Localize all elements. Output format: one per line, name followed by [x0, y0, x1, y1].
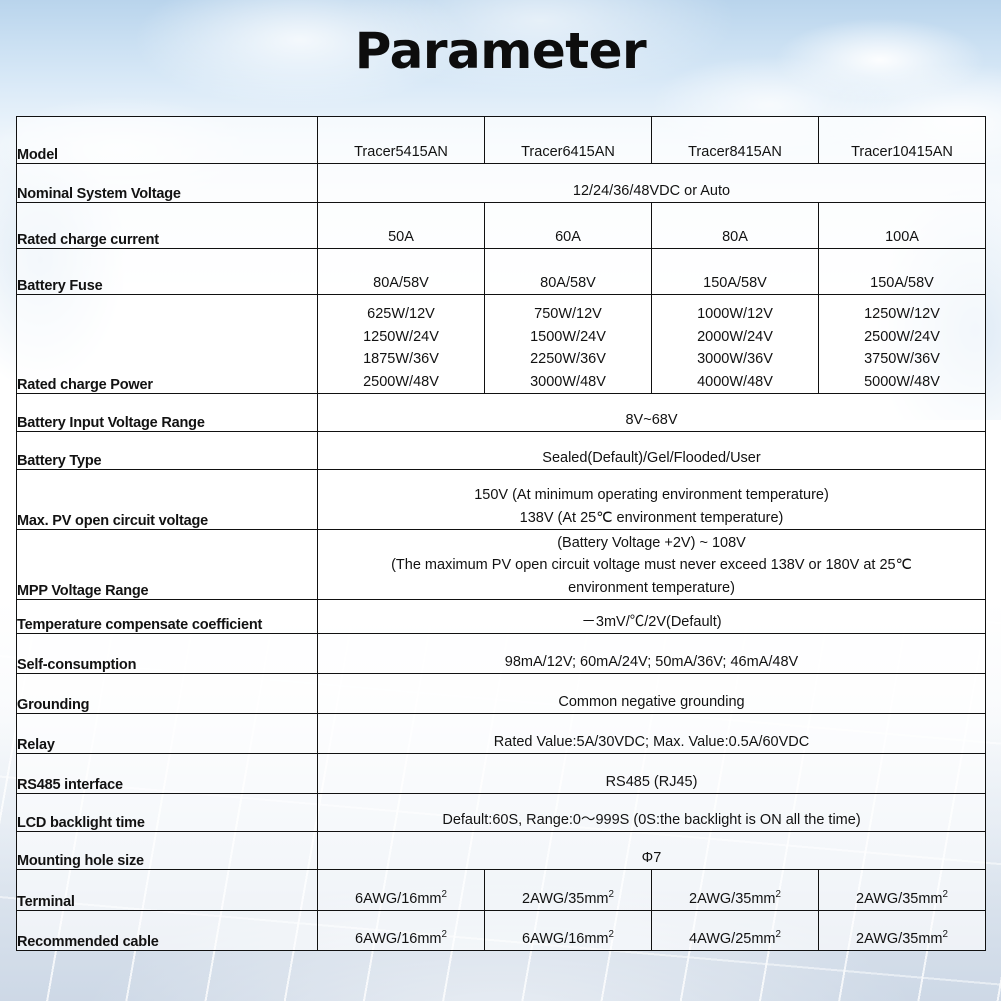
row-label: Max. PV open circuit voltage: [17, 470, 318, 530]
row-value-col-1: 625W/12V1250W/24V1875W/36V2500W/48V: [318, 295, 485, 394]
row-label: Rated charge Power: [17, 295, 318, 394]
row-value-text: 6AWG/16mm: [355, 891, 441, 907]
specification-table-container: ModelTracer5415ANTracer6415ANTracer8415A…: [16, 116, 985, 951]
row-value: (Battery Voltage +2V) ~ 108V(The maximum…: [318, 530, 986, 600]
table-row: Battery TypeSealed(Default)/Gel/Flooded/…: [17, 432, 986, 470]
row-value-text: 2AWG/35mm: [856, 931, 942, 947]
row-value: Default:60S, Range:0〜999S (0S:the backli…: [318, 794, 986, 832]
row-value-line: 138V (At 25℃ environment temperature): [318, 507, 985, 529]
row-value-col-3: 2AWG/35mm2: [652, 870, 819, 911]
row-value-line: 1250W/24V: [318, 326, 484, 348]
table-row: Terminal6AWG/16mm22AWG/35mm22AWG/35mm22A…: [17, 870, 986, 911]
row-value-line: 2500W/48V: [318, 371, 484, 393]
row-value-col-2: 750W/12V1500W/24V2250W/36V3000W/48V: [485, 295, 652, 394]
row-value: Rated Value:5A/30VDC; Max. Value:0.5A/60…: [318, 714, 986, 754]
superscript-two: 2: [609, 889, 614, 900]
row-value-col-4: 150A/58V: [819, 249, 986, 295]
row-value-line: 1000W/12V: [652, 303, 818, 325]
row-label: Mounting hole size: [17, 832, 318, 870]
row-value-col-3: 4AWG/25mm2: [652, 911, 819, 951]
row-value-col-3: Tracer8415AN: [652, 117, 819, 164]
row-value: 8V~68V: [318, 394, 986, 432]
row-label: Recommended cable: [17, 911, 318, 951]
row-label: Temperature compensate coefficient: [17, 600, 318, 634]
table-row: Temperature compensate coefficient－3mV/℃…: [17, 600, 986, 634]
row-value: Φ7: [318, 832, 986, 870]
row-value-line: 5000W/48V: [819, 371, 985, 393]
row-value-text: 6AWG/16mm: [522, 931, 608, 947]
table-row: LCD backlight timeDefault:60S, Range:0〜9…: [17, 794, 986, 832]
row-value-text: 2AWG/35mm: [522, 891, 608, 907]
table-row: ModelTracer5415ANTracer6415ANTracer8415A…: [17, 117, 986, 164]
row-value: 150V (At minimum operating environment t…: [318, 470, 986, 530]
row-label: Grounding: [17, 674, 318, 714]
row-value-col-1: 80A/58V: [318, 249, 485, 295]
row-value-line: 3000W/36V: [652, 348, 818, 370]
row-value-line: 150V (At minimum operating environment t…: [318, 484, 985, 506]
row-value-col-4: 2AWG/35mm2: [819, 870, 986, 911]
row-value-line: 750W/12V: [485, 303, 651, 325]
row-value-col-2: 60A: [485, 203, 652, 249]
table-row: GroundingCommon negative grounding: [17, 674, 986, 714]
row-label: Nominal System Voltage: [17, 164, 318, 203]
row-value: 12/24/36/48VDC or Auto: [318, 164, 986, 203]
table-row: Nominal System Voltage12/24/36/48VDC or …: [17, 164, 986, 203]
table-row: RelayRated Value:5A/30VDC; Max. Value:0.…: [17, 714, 986, 754]
row-value-line: 3750W/36V: [819, 348, 985, 370]
row-value-col-3: 1000W/12V2000W/24V3000W/36V4000W/48V: [652, 295, 819, 394]
table-row: Recommended cable6AWG/16mm26AWG/16mm24AW…: [17, 911, 986, 951]
superscript-two: 2: [943, 889, 948, 900]
table-row: MPP Voltage Range(Battery Voltage +2V) ~…: [17, 530, 986, 600]
row-value-line: 2500W/24V: [819, 326, 985, 348]
row-label: Relay: [17, 714, 318, 754]
row-value-col-4: 2AWG/35mm2: [819, 911, 986, 951]
row-label: LCD backlight time: [17, 794, 318, 832]
row-value-col-4: Tracer10415AN: [819, 117, 986, 164]
page-title: Parameter: [0, 26, 1001, 76]
row-label: Self-consumption: [17, 634, 318, 674]
row-value-col-2: 80A/58V: [485, 249, 652, 295]
row-value: RS485 (RJ45): [318, 754, 986, 794]
row-label: Model: [17, 117, 318, 164]
row-value: Common negative grounding: [318, 674, 986, 714]
row-value-text: 2AWG/35mm: [689, 891, 775, 907]
row-label: MPP Voltage Range: [17, 530, 318, 600]
row-label: Battery Type: [17, 432, 318, 470]
row-value-text: 4AWG/25mm: [689, 931, 775, 947]
superscript-two: 2: [776, 889, 781, 900]
table-row: Battery Fuse80A/58V80A/58V150A/58V150A/5…: [17, 249, 986, 295]
row-value-col-2: Tracer6415AN: [485, 117, 652, 164]
table-row: Rated charge Power625W/12V1250W/24V1875W…: [17, 295, 986, 394]
table-row: Battery Input Voltage Range8V~68V: [17, 394, 986, 432]
table-row: Max. PV open circuit voltage150V (At min…: [17, 470, 986, 530]
superscript-two: 2: [776, 929, 781, 940]
row-value-col-4: 100A: [819, 203, 986, 249]
row-value-line: 625W/12V: [318, 303, 484, 325]
row-value-line: 1875W/36V: [318, 348, 484, 370]
row-label: Rated charge current: [17, 203, 318, 249]
superscript-two: 2: [442, 929, 447, 940]
row-label: Battery Fuse: [17, 249, 318, 295]
row-value: －3mV/℃/2V(Default): [318, 600, 986, 634]
table-row: Rated charge current50A60A80A100A: [17, 203, 986, 249]
row-value-line: 1500W/24V: [485, 326, 651, 348]
table-row: Self-consumption98mA/12V; 60mA/24V; 50mA…: [17, 634, 986, 674]
row-value-line: 4000W/48V: [652, 371, 818, 393]
row-value-text: 2AWG/35mm: [856, 891, 942, 907]
row-value-col-1: 6AWG/16mm2: [318, 911, 485, 951]
row-value-col-2: 6AWG/16mm2: [485, 911, 652, 951]
specification-table: ModelTracer5415ANTracer6415ANTracer8415A…: [16, 116, 986, 951]
superscript-two: 2: [442, 889, 447, 900]
table-row: RS485 interfaceRS485 (RJ45): [17, 754, 986, 794]
row-value-col-1: 6AWG/16mm2: [318, 870, 485, 911]
table-row: Mounting hole sizeΦ7: [17, 832, 986, 870]
row-value-col-4: 1250W/12V2500W/24V3750W/36V5000W/48V: [819, 295, 986, 394]
row-value: Sealed(Default)/Gel/Flooded/User: [318, 432, 986, 470]
row-value: 98mA/12V; 60mA/24V; 50mA/36V; 46mA/48V: [318, 634, 986, 674]
row-value-col-2: 2AWG/35mm2: [485, 870, 652, 911]
row-value-line: 3000W/48V: [485, 371, 651, 393]
superscript-two: 2: [609, 929, 614, 940]
row-label: Battery Input Voltage Range: [17, 394, 318, 432]
row-value-col-3: 80A: [652, 203, 819, 249]
row-label: Terminal: [17, 870, 318, 911]
row-value-text: 6AWG/16mm: [355, 931, 441, 947]
row-value-col-3: 150A/58V: [652, 249, 819, 295]
row-value-line: 1250W/12V: [819, 303, 985, 325]
superscript-two: 2: [943, 929, 948, 940]
row-value-line: 2250W/36V: [485, 348, 651, 370]
row-value-line: 2000W/24V: [652, 326, 818, 348]
row-value-line: environment temperature): [318, 577, 985, 599]
row-label: RS485 interface: [17, 754, 318, 794]
row-value-line: (Battery Voltage +2V) ~ 108V: [318, 532, 985, 554]
row-value-col-1: 50A: [318, 203, 485, 249]
row-value-line: (The maximum PV open circuit voltage mus…: [318, 554, 985, 576]
row-value-col-1: Tracer5415AN: [318, 117, 485, 164]
